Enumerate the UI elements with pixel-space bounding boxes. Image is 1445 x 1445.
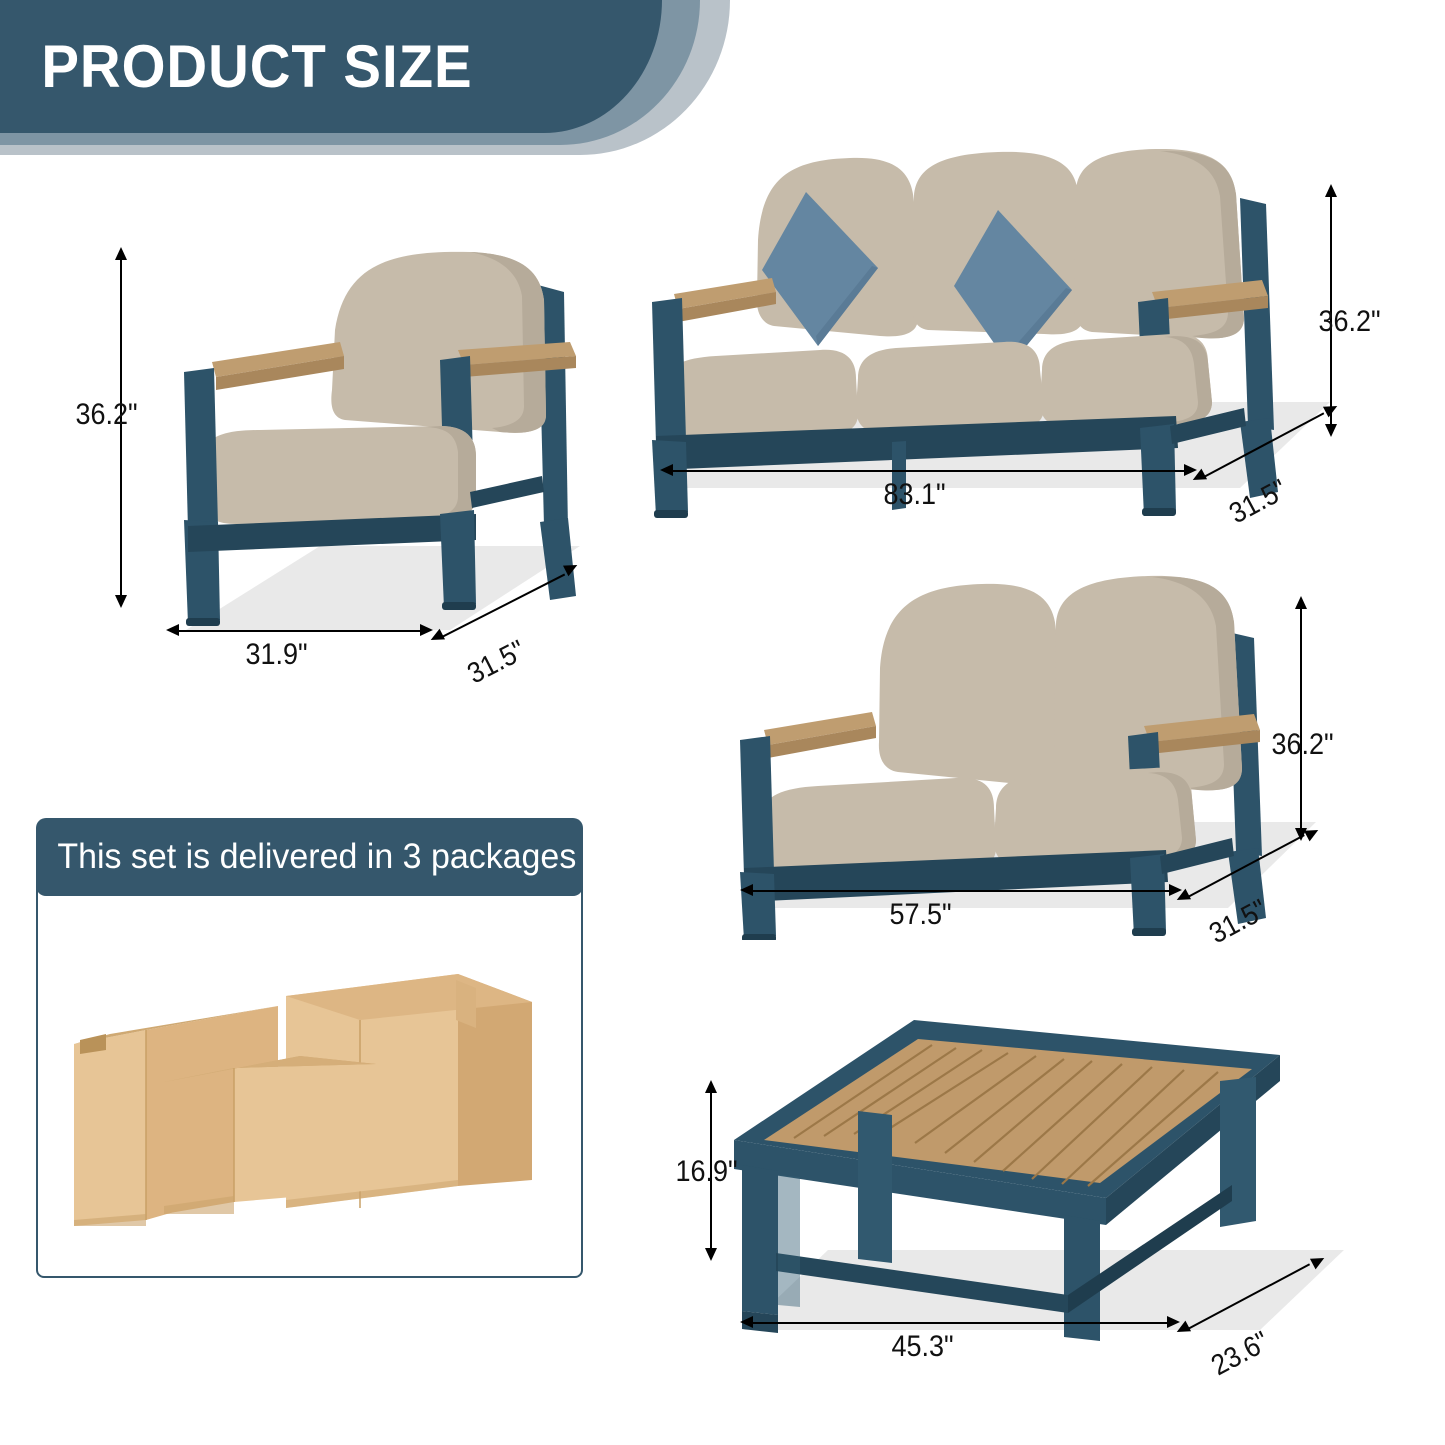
loveseat-height-line [1300, 608, 1302, 830]
sofa-height-arrow-top [1325, 184, 1337, 197]
sofa-height-label: 36.2" [1318, 305, 1380, 339]
coffee-table-width-arrow-left [740, 1316, 753, 1328]
coffee-table-height-label: 16.9" [675, 1155, 737, 1189]
sofa-width-line [672, 470, 1187, 472]
packages-panel [36, 878, 583, 1278]
packages-header: This set is delivered in 3 packages [36, 818, 583, 896]
armchair-width-arrow-left [166, 624, 179, 636]
coffee-table-height-arrow-bottom [705, 1248, 717, 1261]
sofa-height-arrow-bottom [1325, 424, 1337, 437]
loveseat-height-arrow-top [1295, 596, 1307, 609]
product-size-infographic: PRODUCT SIZE [0, 0, 1445, 1445]
coffee-table-width-line [752, 1322, 1170, 1324]
sofa-width-arrow-left [660, 464, 673, 476]
sofa-width-label: 83.1" [883, 478, 945, 512]
loveseat-width-label: 57.5" [889, 898, 951, 932]
armchair-width-label: 31.9" [245, 638, 307, 672]
loveseat-width-arrow-left [740, 884, 753, 896]
header-banner: PRODUCT SIZE [0, 0, 662, 133]
sofa-illustration [640, 140, 1340, 520]
page-title: PRODUCT SIZE [0, 32, 473, 101]
coffee-table-illustration [720, 995, 1360, 1345]
coffee-table-height-arrow-top [705, 1080, 717, 1093]
packages-label: This set is delivered in 3 packages [36, 837, 576, 877]
loveseat-height-label: 36.2" [1271, 728, 1333, 762]
coffee-table-width-label: 45.3" [891, 1330, 953, 1364]
armchair-height-arrow-bottom [115, 595, 127, 608]
armchair-height-arrow-top [115, 247, 127, 260]
loveseat-width-line [752, 890, 1172, 892]
armchair-illustration [140, 230, 600, 650]
loveseat-illustration [720, 560, 1330, 940]
packages-illustration [58, 958, 563, 1258]
armchair-height-label: 36.2" [75, 398, 137, 432]
armchair-width-line [178, 630, 423, 632]
